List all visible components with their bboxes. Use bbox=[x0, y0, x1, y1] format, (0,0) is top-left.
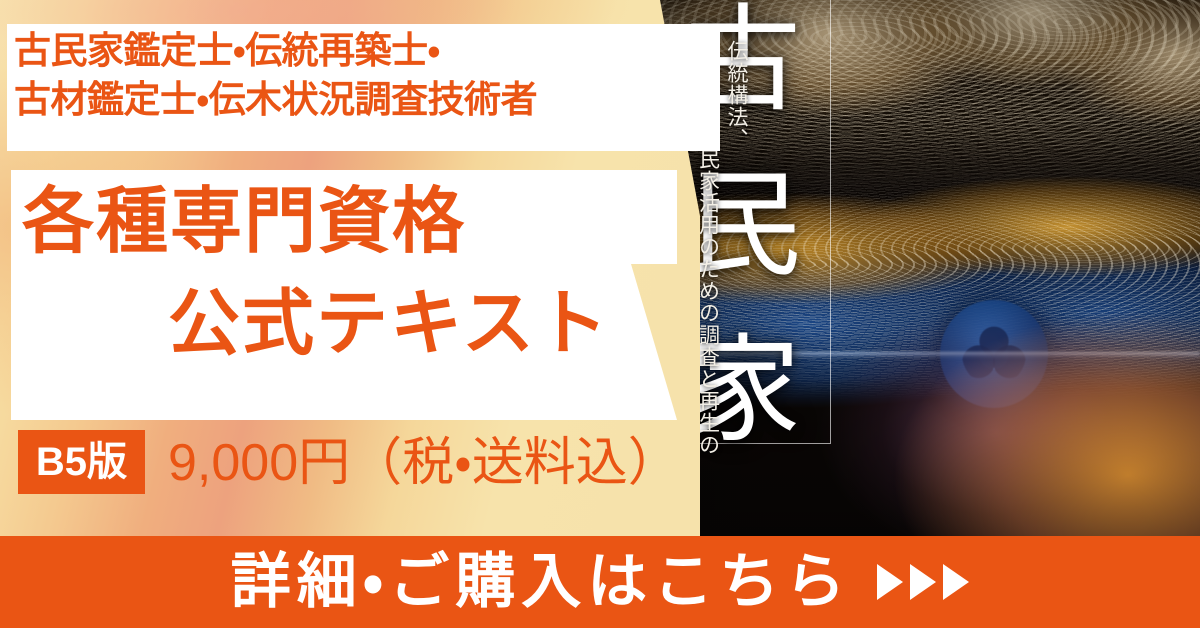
headline-line-1: 各種専門資格 bbox=[22, 186, 466, 258]
qualifications-line-1: 古民家鑑定士・伝統再築士・ bbox=[14, 26, 537, 75]
triangle-right-icon bbox=[943, 564, 969, 600]
price-text: 9,000円（税・送料込） bbox=[168, 434, 680, 492]
qualifications-text: 古民家鑑定士・伝統再築士・ 古材鑑定士・伝木状況調査技術者 bbox=[14, 26, 537, 124]
triangle-right-icon bbox=[877, 564, 903, 600]
cta-arrow-group bbox=[877, 564, 969, 600]
cta-bar[interactable]: 詳細・ご購入はこちら bbox=[0, 536, 1200, 628]
format-badge: B5版 bbox=[18, 430, 145, 494]
qualifications-line-2: 古材鑑定士・伝木状況調査技術者 bbox=[14, 75, 537, 124]
cta-label[interactable]: 詳細・ご購入はこちら bbox=[231, 552, 851, 612]
promo-banner: 古 民 家 伝統構法、 古民家活用のための調査と再生の 古民家鑑定士・伝統再築士… bbox=[0, 0, 1200, 628]
headline-line-2: 公式テキスト bbox=[168, 288, 610, 360]
triangle-right-icon bbox=[910, 564, 936, 600]
